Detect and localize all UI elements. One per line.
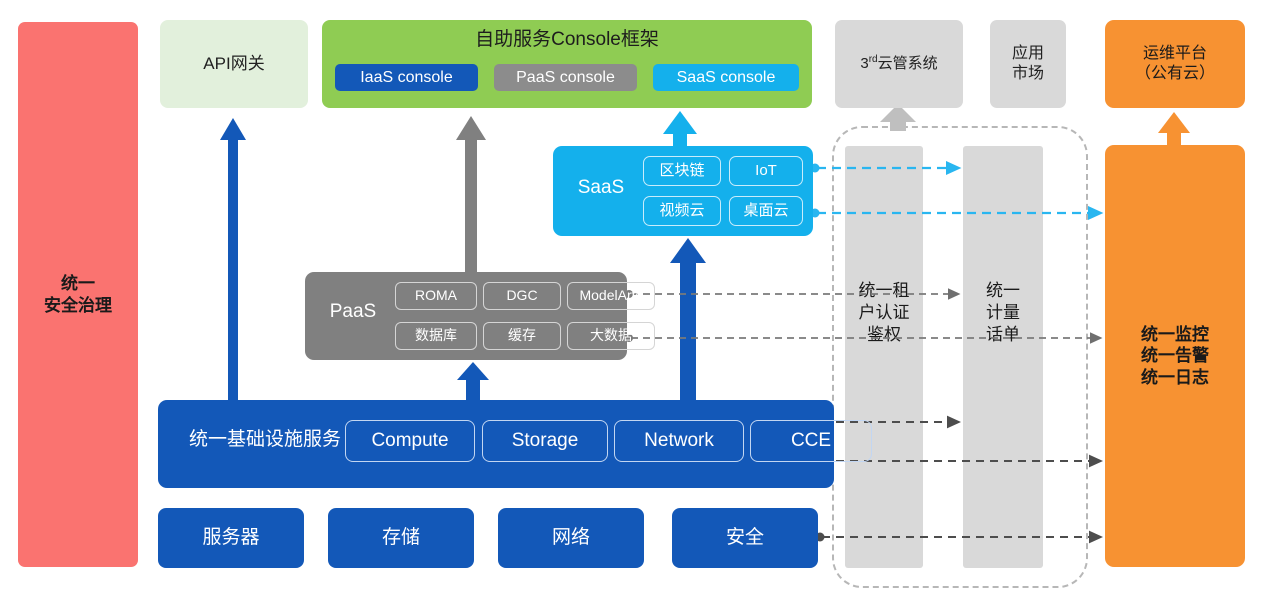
iaas-console-chip[interactable]: IaaS console	[335, 64, 478, 91]
monitor-line-1: 统一监控	[1141, 324, 1209, 345]
infra-bar-label: 统一基础设施服务	[172, 428, 358, 452]
paas-item-cache[interactable]: 缓存	[483, 322, 561, 350]
paas-console-label: PaaS console	[516, 68, 615, 88]
paas-item-database[interactable]: 数据库	[395, 322, 477, 350]
resource-box-security-label: 安全	[726, 526, 764, 550]
ops-platform-line-2: （公有云）	[1135, 64, 1215, 84]
paas-item-roma[interactable]: ROMA	[395, 282, 477, 310]
paas-item-dgc[interactable]: DGC	[483, 282, 561, 310]
paas-item-4-label: 缓存	[508, 327, 536, 345]
paas-item-0-label: ROMA	[415, 287, 457, 305]
arrow-shared-to-third-party	[880, 104, 916, 131]
infra-item-compute[interactable]: Compute	[345, 420, 475, 462]
arrow-paas-to-console	[456, 116, 486, 272]
paas-item-1-label: DGC	[506, 287, 537, 305]
monitor-line-3: 统一日志	[1141, 367, 1209, 388]
security-line-2: 安全治理	[44, 295, 112, 316]
monitor-line-2: 统一告警	[1141, 345, 1209, 366]
paas-item-2-label: ModelArts	[579, 287, 642, 305]
paas-item-modelarts[interactable]: ModelArts	[567, 282, 655, 310]
security-line-1: 统一	[44, 273, 112, 294]
infra-item-cce[interactable]: CCE	[750, 420, 872, 462]
unified-infrastructure-bar[interactable]: 统一基础设施服务 Compute Storage Network CCE	[158, 400, 834, 488]
resource-box-storage-label: 存储	[382, 526, 420, 550]
arrow-infra-to-api-gateway	[220, 118, 246, 400]
saas-item-blockchain[interactable]: 区块链	[643, 156, 721, 186]
resource-box-storage[interactable]: 存储	[328, 508, 474, 568]
infra-item-network[interactable]: Network	[614, 420, 744, 462]
arrow-infra-to-paas	[457, 362, 489, 400]
paas-item-5-label: 大数据	[590, 327, 632, 345]
arrow-monitor-to-ops-platform	[1158, 112, 1190, 146]
saas-item-3-label: 桌面云	[743, 202, 788, 221]
arrow-saas-to-console	[663, 111, 697, 147]
resource-box-server-label: 服务器	[202, 526, 259, 550]
infra-item-3-label: CCE	[791, 429, 831, 453]
ops-platform-line-1: 运维平台	[1135, 44, 1215, 64]
unified-monitoring-panel[interactable]: 统一监控 统一告警 统一日志	[1105, 145, 1245, 567]
iaas-console-label: IaaS console	[360, 68, 453, 88]
third-party-label: 3rd云管系统	[860, 54, 937, 74]
link-paas-to-monitor	[625, 334, 1099, 342]
link-resources-to-monitor	[816, 533, 1100, 542]
resource-box-server[interactable]: 服务器	[158, 508, 304, 568]
third-party-name: 云管系统	[878, 55, 938, 72]
saas-block[interactable]: SaaS 区块链 IoT 视频云 桌面云	[553, 146, 813, 236]
saas-item-desktop-cloud[interactable]: 桌面云	[729, 196, 803, 226]
link-paas-to-metering	[625, 290, 957, 298]
saas-console-label: SaaS console	[677, 68, 776, 88]
link-saas-to-metering	[811, 164, 958, 173]
saas-item-video-cloud[interactable]: 视频云	[643, 196, 721, 226]
infra-item-0-label: Compute	[371, 429, 448, 453]
saas-block-label: SaaS	[565, 176, 637, 200]
api-gateway-box[interactable]: API网关	[160, 20, 308, 108]
self-service-console-frame[interactable]: 自助服务Console框架 IaaS console PaaS console …	[322, 20, 812, 108]
architecture-diagram: 统一租 户认证 鉴权 统一 计量 话单	[0, 0, 1265, 605]
saas-item-2-label: 视频云	[659, 202, 704, 221]
paas-block[interactable]: PaaS ROMA DGC ModelArts 数据库 缓存 大数据	[305, 272, 627, 360]
paas-item-bigdata[interactable]: 大数据	[567, 322, 655, 350]
paas-console-chip[interactable]: PaaS console	[494, 64, 637, 91]
saas-console-chip[interactable]: SaaS console	[653, 64, 799, 91]
saas-item-1-label: IoT	[755, 162, 777, 181]
infra-item-2-label: Network	[644, 429, 714, 453]
saas-item-iot[interactable]: IoT	[729, 156, 803, 186]
third-party-cloud-mgmt-box[interactable]: 3rd云管系统	[835, 20, 963, 108]
paas-block-label: PaaS	[315, 300, 391, 324]
api-gateway-label: API网关	[203, 53, 264, 74]
app-market-line-2: 市场	[1012, 64, 1044, 84]
app-market-line-1: 应用	[1012, 44, 1044, 64]
infra-item-1-label: Storage	[512, 429, 579, 453]
app-market-box[interactable]: 应用 市场	[990, 20, 1066, 108]
resource-box-network-label: 网络	[552, 526, 590, 550]
saas-item-0-label: 区块链	[659, 162, 704, 181]
resource-box-network[interactable]: 网络	[498, 508, 644, 568]
third-party-prefix: 3	[860, 55, 868, 72]
unified-security-panel[interactable]: 统一 安全治理	[18, 22, 138, 567]
third-party-sup: rd	[869, 54, 878, 65]
paas-item-3-label: 数据库	[415, 327, 457, 345]
console-frame-title: 自助服务Console框架	[322, 28, 812, 52]
resource-box-security[interactable]: 安全	[672, 508, 818, 568]
link-saas-to-monitor	[811, 209, 1100, 218]
infra-item-storage[interactable]: Storage	[482, 420, 608, 462]
ops-platform-box[interactable]: 运维平台 （公有云）	[1105, 20, 1245, 108]
arrow-infra-to-saas	[670, 238, 706, 400]
